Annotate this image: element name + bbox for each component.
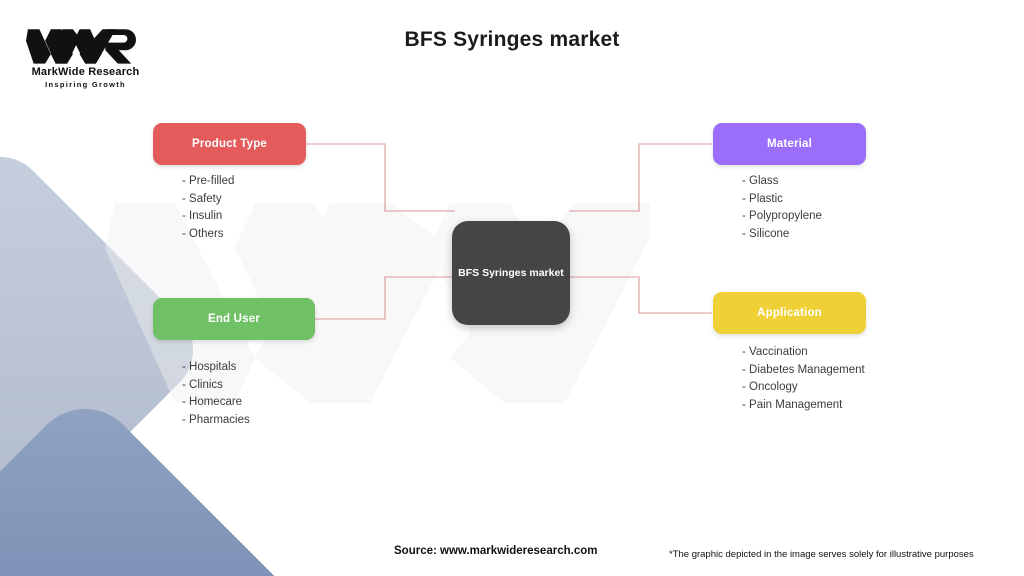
list-item: - Homecare (182, 394, 250, 412)
list-item: - Others (182, 226, 234, 244)
list-item: - Clinics (182, 377, 250, 395)
decorative-shape-dark (0, 387, 318, 576)
list-item: - Insulin (182, 208, 234, 226)
footer-disclaimer: *The graphic depicted in the image serve… (669, 549, 974, 560)
list-item: - Hospitals (182, 359, 250, 377)
branch-list-end-user: - Hospitals - Clinics - Homecare - Pharm… (182, 359, 250, 429)
decorative-shape-light (0, 138, 212, 562)
branch-node-product-type[interactable]: Product Type (153, 123, 306, 165)
center-node-bfs-syringes-market[interactable]: BFS Syringes market (452, 221, 570, 325)
list-item: - Plastic (742, 191, 822, 209)
list-item: - Polypropylene (742, 208, 822, 226)
page-title: BFS Syringes market (0, 28, 1024, 52)
branch-node-end-user[interactable]: End User (153, 298, 315, 340)
logo-tagline: Inspiring Growth (18, 80, 153, 89)
list-item: - Pain Management (742, 397, 865, 415)
branch-list-product-type: - Pre-filled - Safety - Insulin - Others (182, 173, 234, 243)
branch-node-material[interactable]: Material (713, 123, 866, 165)
footer-source: Source: www.markwideresearch.com (394, 545, 597, 557)
logo-company-name: MarkWide Research (18, 66, 153, 78)
list-item: - Pharmacies (182, 412, 250, 430)
list-item: - Pre-filled (182, 173, 234, 191)
list-item: - Vaccination (742, 344, 865, 362)
branch-node-application[interactable]: Application (713, 292, 866, 334)
branch-list-material: - Glass - Plastic - Polypropylene - Sili… (742, 173, 822, 243)
list-item: - Safety (182, 191, 234, 209)
list-item: - Silicone (742, 226, 822, 244)
infographic-canvas: MarkWide Research Inspiring Growth BFS S… (0, 0, 1024, 576)
branch-list-application: - Vaccination - Diabetes Management - On… (742, 344, 865, 414)
list-item: - Diabetes Management (742, 362, 865, 380)
list-item: - Glass (742, 173, 822, 191)
list-item: - Oncology (742, 379, 865, 397)
